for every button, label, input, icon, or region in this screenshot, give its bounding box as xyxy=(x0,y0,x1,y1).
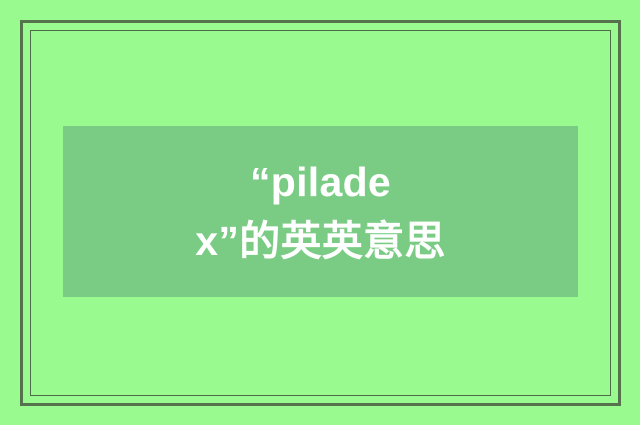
poster-canvas: “piladex”的英英意思 xyxy=(0,0,640,425)
title-line-1: “pilade xyxy=(195,154,445,211)
title-line-2: x”的英英意思 xyxy=(195,213,445,270)
page-title: “piladex”的英英意思 xyxy=(195,154,445,269)
title-banner: “piladex”的英英意思 xyxy=(63,126,578,297)
